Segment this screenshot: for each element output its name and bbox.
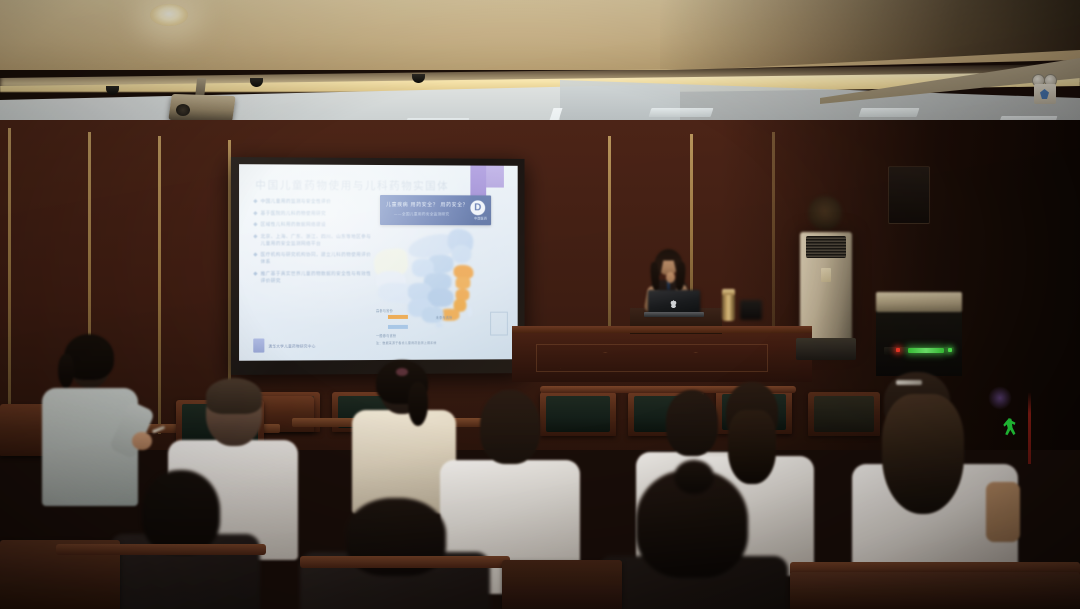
led-green-dot bbox=[948, 348, 952, 352]
bullet-text: 基于医院的儿科药物使用研究 bbox=[261, 210, 326, 217]
list-item bbox=[598, 470, 788, 609]
list-item bbox=[300, 498, 490, 609]
lecture-hall-photo: 中国儿童药物使用与儿科药物实国体 ◆ 中国儿童用药监测与安全性评价 ◆ 基于医院… bbox=[0, 0, 1080, 609]
map-note: 注：数据来源于各省儿童用药监测上报系统 bbox=[376, 341, 437, 345]
projector-lens-icon bbox=[176, 104, 190, 116]
legend-swatch bbox=[388, 325, 408, 329]
bullet-dot-icon: ◆ bbox=[253, 252, 257, 266]
audience-hand bbox=[132, 432, 152, 450]
presenter-hand bbox=[666, 272, 675, 283]
projection-screen-surface: 中国儿童药物使用与儿科药物实国体 ◆ 中国儿童用药监测与安全性评价 ◆ 基于医院… bbox=[239, 164, 518, 361]
av-rack-top-shelf bbox=[876, 292, 962, 312]
audience-hair-long bbox=[882, 394, 964, 514]
audience-hair-bun bbox=[674, 460, 714, 494]
led-red bbox=[896, 348, 900, 352]
ac-base bbox=[796, 338, 856, 360]
slide-footer: 清华大学儿童药物研究中心 bbox=[268, 344, 315, 349]
led-green-bar bbox=[908, 348, 944, 353]
av-equipment-rack bbox=[876, 310, 962, 376]
slide-accent-bar-secondary bbox=[486, 166, 504, 188]
bullet-dot-icon: ◆ bbox=[253, 222, 257, 229]
province-shape-highlighted bbox=[456, 277, 471, 289]
auditorium-seat bbox=[502, 560, 622, 609]
bullet-text: 推广基于真实世界儿童药物数据的安全性与有效性评价研究 bbox=[261, 271, 372, 285]
list-item: ◆ 区域性儿科用药数据网络建设 bbox=[253, 222, 372, 229]
slide-banner: 儿童疾病 用药安全？ 用药安全？ ——全国儿童用药安全监测研究 D 中国医药 bbox=[380, 195, 491, 225]
province-shape bbox=[436, 323, 443, 328]
projection-screen: 中国儿童药物使用与儿科药物实国体 ◆ 中国儿童用药监测与安全性评价 ◆ 基于医院… bbox=[231, 157, 525, 375]
ac-brand-logo bbox=[821, 268, 831, 282]
china-province-map bbox=[372, 227, 501, 337]
audience-hair bbox=[142, 470, 220, 554]
thermos-cap bbox=[722, 289, 735, 295]
audience-ponytail bbox=[58, 354, 74, 388]
institution-logo-icon bbox=[253, 338, 264, 352]
map-inset-box bbox=[490, 312, 508, 336]
audience-hair bbox=[480, 390, 540, 464]
wall-panel-seam bbox=[158, 136, 161, 434]
thermos-flask bbox=[722, 293, 735, 321]
twin-head-emergency-light bbox=[1032, 72, 1058, 106]
desk-object bbox=[740, 300, 762, 320]
auditorium-seat bbox=[790, 572, 1080, 609]
hair-accessory bbox=[396, 368, 408, 376]
stage-top-edge bbox=[512, 326, 812, 333]
list-item bbox=[110, 470, 260, 609]
legend-label: 一般参与省份 bbox=[376, 333, 396, 338]
list-item: ◆ 中国儿童用药监测与安全性评价 bbox=[253, 199, 372, 206]
list-item: ◆ 北京、上海、广东、浙江、四川、山东等地区参与儿童用药安全监测网络平台 bbox=[253, 233, 372, 247]
laptop-base bbox=[644, 312, 704, 317]
bullet-dot-icon: ◆ bbox=[253, 210, 257, 217]
list-item: ◆ 医疗机构与研究机构协同，建立儿科药物使用评价体系 bbox=[253, 252, 372, 266]
ac-grille-icon bbox=[806, 236, 846, 258]
list-item: ◆ 基于医院的儿科药物使用研究 bbox=[253, 210, 372, 217]
bullet-dot-icon: ◆ bbox=[253, 233, 257, 247]
bullet-text: 北京、上海、广东、浙江、四川、山东等地区参与儿童用药安全监测网络平台 bbox=[261, 233, 372, 247]
banner-title: 儿童疾病 用药安全？ 用药安全？ bbox=[386, 201, 468, 208]
banner-logo-caption: 中国医药 bbox=[474, 216, 487, 220]
banner-logo-icon: D bbox=[470, 200, 485, 215]
dome-sensor-icon bbox=[106, 86, 119, 95]
seat-back-rail bbox=[56, 544, 266, 555]
legend-swatch bbox=[388, 315, 408, 319]
legend-label: 未参与省份 bbox=[436, 315, 453, 320]
audience-arm bbox=[986, 482, 1020, 542]
province-shape bbox=[452, 245, 472, 263]
seat-back-rail bbox=[300, 556, 510, 568]
wall-panel-seam bbox=[8, 128, 11, 428]
recessed-downlight bbox=[150, 4, 188, 26]
bullet-text: 中国儿童用药监测与安全性评价 bbox=[261, 199, 332, 206]
slide-bullet-list: ◆ 中国儿童用药监测与安全性评价 ◆ 基于医院的儿科药物使用研究 ◆ 区域性儿科… bbox=[253, 199, 372, 290]
banner-subtitle: ——全国儿童用药安全监测研究 bbox=[394, 212, 450, 217]
bullet-text: 区域性儿科用药数据网络建设 bbox=[261, 222, 326, 229]
wall-mounted-speaker bbox=[888, 166, 930, 224]
list-item: ◆ 推广基于真实世界儿童药物数据的安全性与有效性评价研究 bbox=[253, 271, 372, 285]
audience-ponytail bbox=[408, 382, 428, 426]
wall-panel-seam bbox=[608, 136, 611, 344]
ceiling-vent bbox=[859, 108, 920, 117]
ceiling-vent bbox=[649, 108, 714, 117]
audience-hair bbox=[206, 378, 262, 414]
decorative-plant bbox=[808, 196, 842, 230]
bullet-dot-icon: ◆ bbox=[253, 199, 257, 206]
red-light-strip bbox=[1028, 392, 1031, 464]
slide-title: 中国儿童药物使用与儿科药物实国体 bbox=[255, 177, 449, 193]
hair-clip-icon bbox=[896, 380, 922, 385]
bullet-dot-icon: ◆ bbox=[253, 271, 257, 285]
bullet-text: 医疗机构与研究机构协同，建立儿科药物使用评价体系 bbox=[261, 252, 372, 266]
legend-label: 高参与省份 bbox=[376, 308, 393, 313]
province-shape bbox=[467, 307, 472, 317]
